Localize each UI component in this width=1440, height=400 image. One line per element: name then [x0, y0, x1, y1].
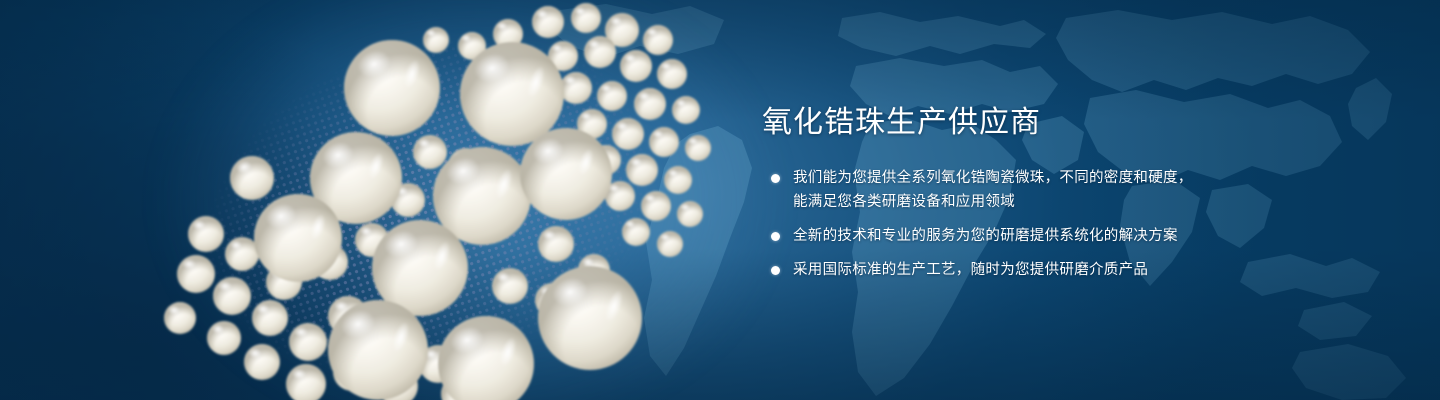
- feature-list: 我们能为您提供全系列氧化锆陶瓷微珠，不同的密度和硬度， 能满足您各类研磨设备和应…: [762, 166, 1362, 284]
- bullet-dot-icon: [771, 266, 780, 275]
- list-item-line: 能满足您各类研磨设备和应用领域: [793, 190, 1362, 215]
- banner-copy: 氧化锆珠生产供应商 我们能为您提供全系列氧化锆陶瓷微珠，不同的密度和硬度， 能满…: [762, 104, 1362, 283]
- list-item-line: 采用国际标准的生产工艺，随时为您提供研磨介质产品: [793, 258, 1362, 283]
- list-item-line: 我们能为您提供全系列氧化锆陶瓷微珠，不同的密度和硬度，: [793, 166, 1362, 191]
- list-item: 全新的技术和专业的服务为您的研磨提供系统化的解决方案: [762, 224, 1362, 249]
- list-item-line: 全新的技术和专业的服务为您的研磨提供系统化的解决方案: [793, 224, 1362, 249]
- zirconia-beads-image: [0, 0, 760, 400]
- bullet-dot-icon: [771, 174, 780, 183]
- list-item: 我们能为您提供全系列氧化锆陶瓷微珠，不同的密度和硬度， 能满足您各类研磨设备和应…: [762, 166, 1362, 216]
- list-item: 采用国际标准的生产工艺，随时为您提供研磨介质产品: [762, 258, 1362, 283]
- hero-banner: 氧化锆珠生产供应商 我们能为您提供全系列氧化锆陶瓷微珠，不同的密度和硬度， 能满…: [0, 0, 1440, 400]
- page-title: 氧化锆珠生产供应商: [762, 104, 1362, 142]
- bullet-dot-icon: [771, 232, 780, 241]
